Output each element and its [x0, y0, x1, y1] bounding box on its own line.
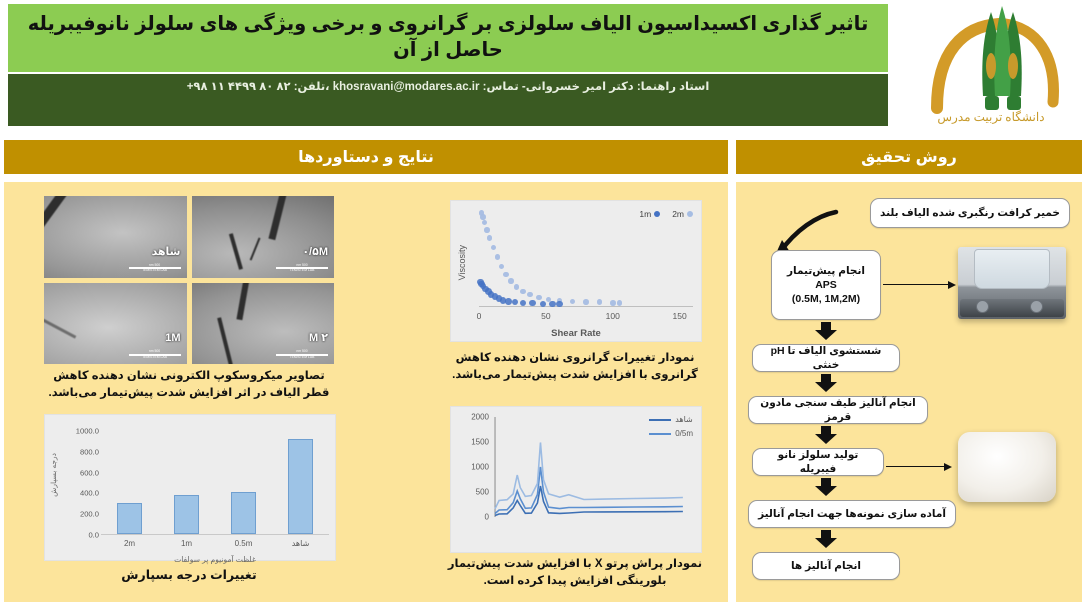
viscosity-data-point: [503, 272, 509, 278]
dp-chart-bar-column: [215, 431, 272, 534]
dp-chart-ytick: 600.0: [80, 468, 99, 477]
viscosity-data-point: [512, 299, 519, 306]
flow-step-produce-nfc: تولید سلولز نانو فیبریله: [752, 448, 884, 476]
dp-chart-yticks: 0.0200.0400.0600.0800.01000.0: [59, 431, 99, 535]
dp-chart-ylabel: درجه بسپارش: [49, 453, 58, 497]
viscosity-data-point: [495, 254, 501, 260]
flow-step-label: تولید سلولز نانو فیبریله: [759, 448, 877, 476]
flow-step-label: آماده سازی نمونه‌ها جهت انجام آنالیز: [758, 507, 946, 521]
dp-chart-bar-column: [101, 431, 158, 534]
dp-chart-bar: [117, 503, 142, 534]
viscosity-xtick: 150: [673, 311, 687, 321]
university-logo: دانشگاه تربیت مدرس: [905, 2, 1077, 126]
dp-chart-xlabels: شاهد0.5m1m2m: [101, 539, 329, 548]
flow-step-pretreatment: انجام پیش‌تیمار APS (0.5M, 1M,2M): [771, 250, 881, 320]
viscosity-xtick: 50: [541, 311, 550, 321]
viscosity-data-point: [520, 289, 526, 295]
dp-chart-bar: [174, 495, 199, 534]
dp-chart-plot: [101, 431, 329, 535]
xrd-chart: 0500100015002000 شاهد 0/5m: [450, 406, 702, 553]
poster-title: تاثیر گذاری اکسیداسیون الیاف سلولزی بر گ…: [8, 4, 888, 72]
flow-step-label: شستشوی الیاف تا pH خنثی: [759, 344, 893, 372]
sem-scale-sub: TEM/STEM LAB: [129, 356, 181, 360]
arrow-down-1-icon: [815, 322, 837, 340]
viscosity-data-point: [549, 301, 556, 308]
viscosity-data-point: [480, 214, 486, 220]
xrd-series-line: [495, 467, 683, 514]
flow-step-wash: شستشوی الیاف تا pH خنثی: [752, 344, 900, 372]
sem-scale-sub: TEM/STEM LAB: [276, 356, 328, 360]
dp-chart-bar: [288, 439, 313, 534]
arrow-right-to-nfc-icon: [886, 462, 952, 472]
viscosity-data-point: [536, 295, 542, 301]
arrow-down-4-icon: [815, 478, 837, 496]
viscosity-data-point: [527, 292, 533, 298]
viscosity-xticks: 050100150: [479, 311, 693, 323]
viscosity-data-point: [583, 299, 589, 305]
xrd-legend: شاهد 0/5m: [649, 415, 693, 443]
poster-root: تاثیر گذاری اکسیداسیون الیاف سلولزی بر گ…: [0, 0, 1086, 605]
xrd-series-line: [495, 443, 683, 509]
sem-label: ۲ M: [309, 331, 328, 344]
viscosity-data-point: [556, 301, 563, 308]
flow-step-run-analyses: انجام آنالیز ها: [752, 552, 900, 580]
sem-image-1M: 1M 500 nm TEM/STEM LAB: [44, 283, 187, 365]
dp-chart-bar-column: [158, 431, 215, 534]
flow-step-start: خمیر کرافت رنگبری شده الیاف بلند: [870, 198, 1070, 228]
xrd-ytick: 2000: [471, 413, 489, 422]
viscosity-data-point: [491, 245, 497, 251]
nanocellulose-gel-photo: [958, 432, 1056, 502]
dp-chart-ytick: 400.0: [80, 489, 99, 498]
sem-label: 1M: [165, 332, 180, 344]
viscosity-xtick: 100: [606, 311, 620, 321]
sem-label: شاهد: [152, 245, 181, 258]
dp-chart-xtick: شاهد: [272, 539, 329, 548]
section-header-results: نتایج و دستاوردها: [4, 140, 728, 174]
xrd-series-line: [495, 486, 683, 516]
section-header-results-text: نتایج و دستاوردها: [298, 147, 434, 167]
legend-label: 0/5m: [675, 429, 693, 438]
dp-chart-xtick: 2m: [101, 539, 158, 548]
flow-step-prepare-samples: آماده سازی نمونه‌ها جهت انجام آنالیز: [748, 500, 956, 528]
sem-scale-bar: 500 nm TEM/STEM LAB: [276, 264, 328, 274]
viscosity-data-point: [514, 284, 520, 290]
magnetic-stirrer-photo: [958, 247, 1066, 319]
viscosity-caption: نمودار تغییرات گرانروی نشان دهنده کاهش گ…: [444, 350, 706, 383]
sem-scale-bar: 500 nm TEM/STEM LAB: [129, 264, 181, 274]
viscosity-data-point: [617, 300, 623, 306]
sem-scale-bar: 500 nm TEM/STEM LAB: [276, 350, 328, 360]
arrow-down-5-icon: [815, 530, 837, 548]
poster-contact-bar: استاد راهنما: دکتر امیر خسروانی- تماس: k…: [8, 74, 888, 126]
flow-step-line1: انجام پیش‌تیمار: [787, 264, 865, 278]
dp-chart-bars: [101, 431, 329, 534]
poster-title-text: تاثیر گذاری اکسیداسیون الیاف سلولزی بر گ…: [22, 12, 874, 63]
xrd-ytick: 1500: [471, 438, 489, 447]
dp-chart-xtick: 1m: [158, 539, 215, 548]
viscosity-data-point: [484, 227, 490, 233]
viscosity-scatter-chart: Viscosity 2m 1m 050100150 Shear Rate: [450, 200, 702, 342]
sem-image-0.5M: ۰/۵M 500 nm TEM/STEM LAB: [192, 196, 335, 278]
section-header-method: روش تحقیق: [736, 140, 1082, 174]
viscosity-xlabel: Shear Rate: [451, 328, 701, 339]
viscosity-data-point: [508, 278, 514, 284]
sem-image-control: شاهد 500 nm TEM/STEM LAB: [44, 196, 187, 278]
arrow-down-3-icon: [815, 426, 837, 444]
dp-chart-ytick: 1000.0: [76, 427, 99, 436]
flow-step-line3: (0.5M, 1M,2M): [792, 292, 860, 306]
poster-contact-text: استاد راهنما: دکتر امیر خسروانی- تماس: k…: [187, 79, 710, 93]
viscosity-data-point: [570, 299, 576, 305]
xrd-ytick: 0: [485, 513, 489, 522]
sem-scale-sub: TEM/STEM LAB: [129, 269, 181, 273]
dp-chart-bar-column: [272, 431, 329, 534]
sem-scale-bar: 500 nm TEM/STEM LAB: [129, 350, 181, 360]
dp-chart-bar: [231, 492, 256, 534]
viscosity-data-point: [482, 220, 488, 226]
dp-chart-xtick: 0.5m: [215, 539, 272, 548]
viscosity-data-point: [487, 235, 493, 241]
flow-step-label: انجام آنالیز ها: [791, 559, 861, 573]
dp-bar-chart: درجه بسپارش 0.0200.0400.0600.0800.01000.…: [44, 414, 336, 561]
flow-step-ftir: انجام آنالیز طیف سنجی مادون قرمز: [748, 396, 928, 424]
dp-chart-ytick: 200.0: [80, 510, 99, 519]
viscosity-data-point: [610, 300, 616, 306]
viscosity-data-point: [505, 298, 512, 305]
flow-step-line2: APS: [815, 278, 837, 292]
flow-step-label: انجام آنالیز طیف سنجی مادون قرمز: [755, 396, 921, 424]
dp-chart-caption: تغییرات درجه بسپارش: [44, 566, 334, 584]
dp-chart-ytick: 0.0: [88, 531, 99, 540]
sem-image-grid: ۰/۵M 500 nm TEM/STEM LAB شاهد 500 nm TEM…: [44, 196, 334, 364]
sem-caption: تصاویر میکروسکوپ الکترونی نشان دهنده کاه…: [44, 368, 334, 401]
viscosity-data-point: [597, 299, 603, 305]
viscosity-xtick: 0: [477, 311, 482, 321]
section-header-method-text: روش تحقیق: [861, 147, 957, 167]
xrd-caption: نمودار پراش پرتو X با افزایش شدت پیش‌تیم…: [444, 556, 706, 589]
sem-image-2M: ۲ M 500 nm TEM/STEM LAB: [192, 283, 335, 365]
viscosity-ylabel: Viscosity: [457, 245, 467, 280]
sem-label: ۰/۵M: [302, 245, 328, 258]
xrd-yticks: 0500100015002000: [455, 417, 489, 517]
sem-scale-sub: TEM/STEM LAB: [276, 269, 328, 273]
legend-label: شاهد: [675, 415, 693, 424]
viscosity-plot-area: [479, 211, 693, 307]
arrow-right-to-stirrer-icon: [883, 280, 956, 290]
xrd-ytick: 1000: [471, 463, 489, 472]
dp-chart-xlabel: غلظت آمونیوم پر سولفات: [101, 555, 329, 564]
dp-chart-ytick: 800.0: [80, 447, 99, 456]
flow-step-label: خمیر کرافت رنگبری شده الیاف بلند: [880, 206, 1060, 220]
xrd-legend-item-0.5m: 0/5m: [649, 429, 693, 438]
xrd-ytick: 500: [476, 488, 489, 497]
viscosity-data-point: [499, 264, 505, 270]
arrow-down-2-icon: [815, 374, 837, 392]
xrd-legend-item-control: شاهد: [649, 415, 693, 424]
svg-text:دانشگاه تربیت مدرس: دانشگاه تربیت مدرس: [937, 110, 1044, 124]
tarbiat-modares-logo-icon: دانشگاه تربیت مدرس: [907, 4, 1075, 124]
